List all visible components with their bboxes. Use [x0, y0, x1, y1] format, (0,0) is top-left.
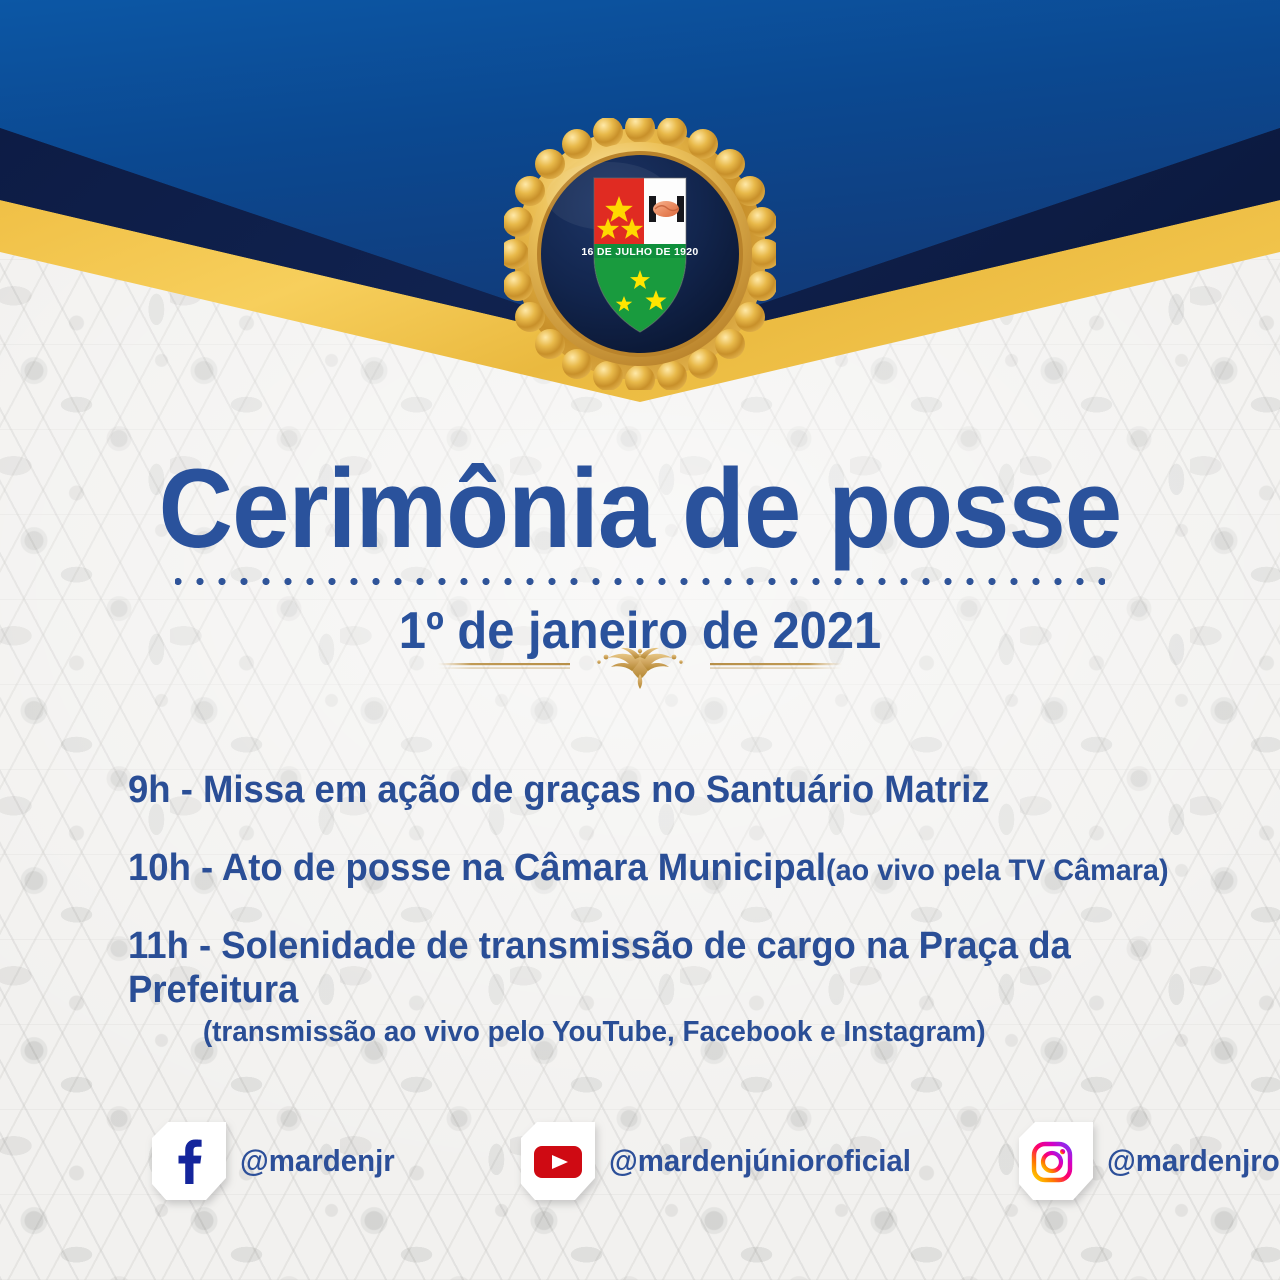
schedule-separator: -: [191, 847, 222, 889]
schedule-text: Ato de posse na Câmara Municipal: [222, 847, 826, 889]
emblem-motto: 16 DE JULHO DE 1920: [581, 246, 698, 258]
schedule-time: 9h: [128, 769, 171, 811]
title-block: Cerimônia de posse 1º de janeiro de 2021: [0, 452, 1280, 661]
schedule-item: 10h - Ato de posse na Câmara Municipal(a…: [128, 846, 1220, 890]
poster-canvas: 16 DE JULHO DE 1920 Cerimônia de posse 1…: [0, 0, 1280, 1280]
facebook-icon[interactable]: [152, 1122, 226, 1200]
social-footer: @mardenjr @mardenjúnioroficial: [0, 1122, 1280, 1200]
municipal-emblem: 16 DE JULHO DE 1920: [504, 118, 776, 390]
schedule-parenthetical: (ao vivo pela TV Câmara): [826, 854, 1169, 887]
page-title: Cerimônia de posse: [51, 452, 1229, 566]
youtube-handle: @mardenjúnioroficial: [609, 1143, 911, 1179]
schedule-time: 11h: [128, 925, 189, 967]
schedule-time: 10h: [128, 847, 191, 889]
dotted-divider: [175, 576, 1105, 587]
schedule-line: 9h - Missa em ação de graças no Santuári…: [128, 768, 1176, 812]
schedule-item: 11h - Solenidade de transmissão de cargo…: [128, 924, 1220, 1049]
youtube-icon[interactable]: [521, 1122, 595, 1200]
schedule-separator: -: [171, 769, 203, 811]
instagram-handle: @mardenjroficial: [1107, 1143, 1280, 1179]
schedule-line: 11h - Solenidade de transmissão de cargo…: [128, 924, 1176, 1012]
filigree-ornament-divider: [430, 643, 850, 695]
social-link-facebook[interactable]: @mardenjr: [152, 1122, 403, 1200]
social-link-instagram[interactable]: @mardenjroficial: [1019, 1122, 1280, 1200]
schedule-text: Missa em ação de graças no Santuário Mat…: [203, 769, 990, 811]
schedule-line: 10h - Ato de posse na Câmara Municipal(a…: [128, 846, 1176, 890]
social-link-youtube[interactable]: @mardenjúnioroficial: [521, 1122, 927, 1200]
schedule-item: 9h - Missa em ação de graças no Santuári…: [128, 768, 1220, 812]
facebook-handle: @mardenjr: [240, 1143, 395, 1179]
schedule-separator: -: [189, 925, 221, 967]
instagram-icon[interactable]: [1019, 1122, 1093, 1200]
schedule-list: 9h - Missa em ação de graças no Santuári…: [0, 768, 1280, 1049]
schedule-note: (transmissão ao vivo pelo YouTube, Faceb…: [128, 1016, 1176, 1049]
schedule-text: Solenidade de transmissão de cargo na Pr…: [128, 925, 1071, 1011]
